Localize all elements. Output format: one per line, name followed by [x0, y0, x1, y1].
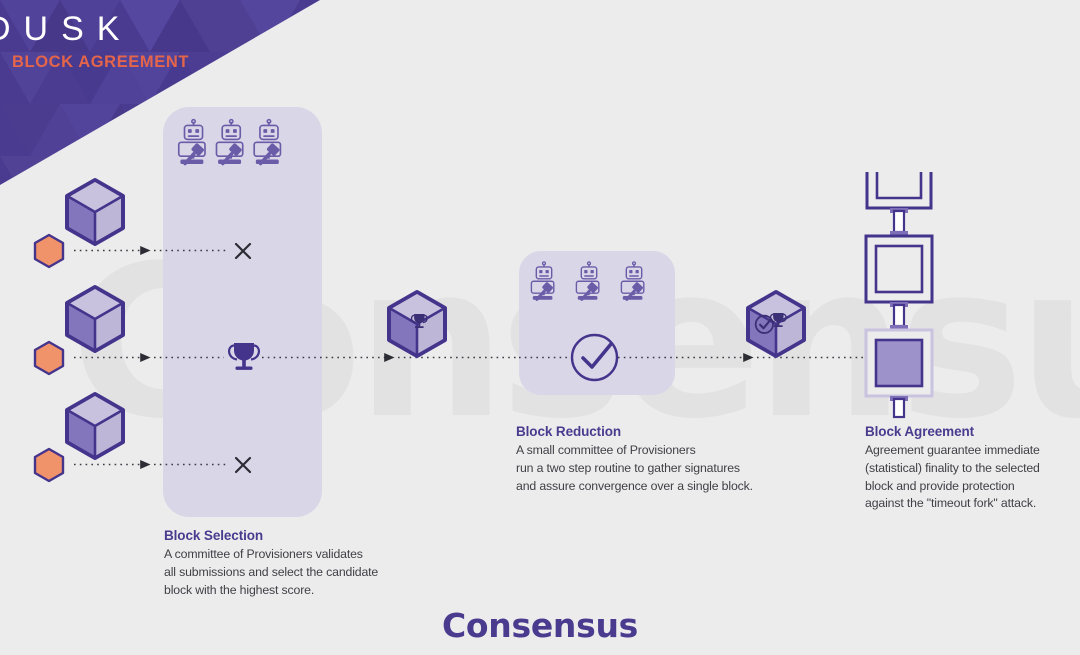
caption-block-agreement: Block Agreement Agreement guarantee imme…: [865, 424, 1075, 513]
brand-logo-subtitle: BLOCK AGREEMENT: [12, 53, 260, 72]
caption-block-reduction: Block Reduction A small committee of Pro…: [516, 424, 846, 495]
robot-judge-icon-4: [531, 262, 553, 304]
caption-body-block-selection: A committee of Provisioners validates al…: [164, 546, 464, 599]
caption-title-block-agreement: Block Agreement: [865, 424, 1075, 439]
check-circle-icon: [572, 335, 617, 380]
hexagon-icon-middle: [35, 342, 63, 374]
hexagon-icon-bottom: [35, 449, 63, 481]
agreed-block-cube: [748, 292, 804, 356]
brand-logo-text: DUSK: [0, 12, 260, 48]
selected-block-cube: [389, 292, 445, 356]
trophy-icon-winner: [229, 343, 259, 370]
infographic-canvas: Consensus: [0, 0, 1080, 655]
caption-title-block-reduction: Block Reduction: [516, 424, 846, 439]
cube-icon-middle: [67, 287, 123, 351]
x-mark-icon-bottom: [236, 458, 250, 472]
brand-logo: DUSK BLOCK AGREEMENT: [0, 12, 260, 72]
caption-block-selection: Block Selection A committee of Provision…: [164, 528, 464, 599]
robot-judge-icon-5: [576, 262, 598, 304]
caption-body-block-reduction: A small committee of Provisioners run a …: [516, 442, 846, 495]
reduction-provisioners: [531, 262, 643, 304]
blockchain-icon: [866, 172, 932, 417]
page-title: Consensus: [0, 606, 1080, 645]
caption-body-block-agreement: Agreement guarantee immediate (statistic…: [865, 442, 1075, 513]
robot-judge-icon-6: [621, 262, 643, 304]
submission-hexagons: [35, 235, 63, 481]
caption-title-block-selection: Block Selection: [164, 528, 464, 543]
cube-icon-bottom: [67, 394, 123, 458]
